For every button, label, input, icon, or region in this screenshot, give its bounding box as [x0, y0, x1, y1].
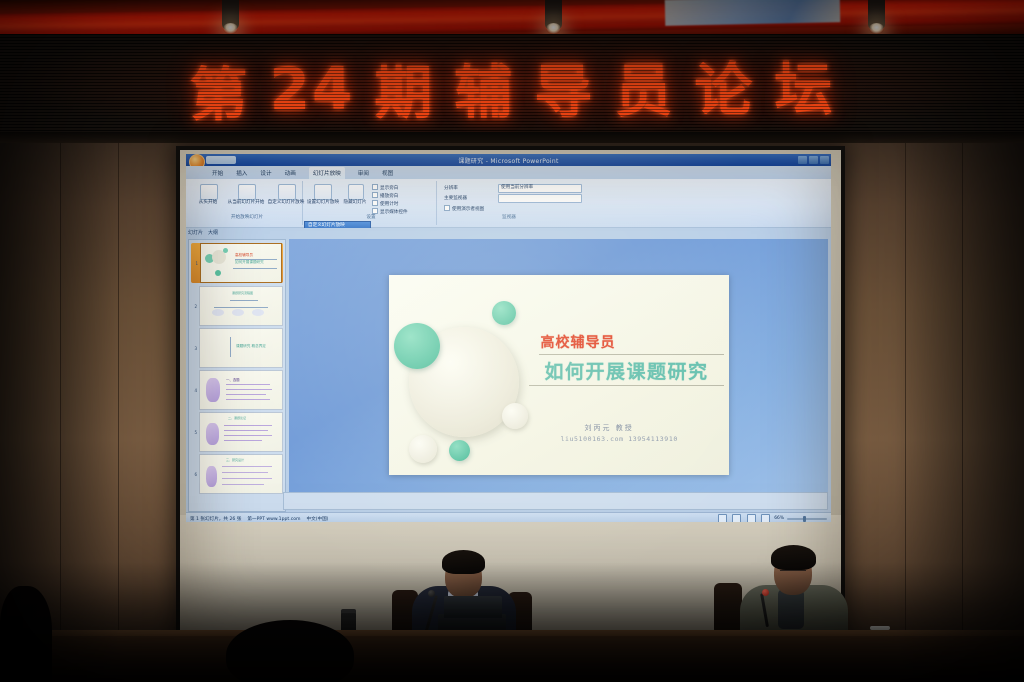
tab-insert[interactable]: 插入 — [236, 169, 247, 177]
thumb-rule — [233, 268, 277, 269]
slide-circle-teal-icon — [492, 301, 516, 325]
thumb-divider — [230, 337, 231, 357]
slide-circle-white-icon — [502, 403, 528, 429]
checkbox-label: 使用演示者视图 — [452, 207, 484, 212]
slide-circle-teal-icon — [449, 440, 470, 461]
slide-editing-area[interactable]: 高校辅导员 如何开展课题研究 刘丙元 教授 liu5100163.com 139… — [289, 239, 828, 510]
thumb-box-icon — [252, 309, 264, 316]
checkbox-label: 播放旁白 — [380, 194, 398, 199]
thumb-rule — [226, 399, 270, 400]
slide-contact: liu5100163.com 13954113910 — [561, 435, 678, 443]
thumb-rule — [222, 466, 272, 467]
slide-divider — [539, 354, 724, 355]
tab-review[interactable]: 审阅 — [358, 169, 369, 177]
monitor-combo[interactable] — [498, 194, 582, 203]
label-show-on: 主要监视器 — [444, 195, 467, 201]
zoom-level: 66% — [774, 516, 784, 521]
thumbnail-caption: 二、课题论证 — [228, 416, 246, 420]
thumb-side-shape — [206, 423, 219, 445]
hair — [771, 545, 816, 570]
banner-char: 第 — [189, 47, 250, 132]
checkbox-box[interactable] — [444, 205, 450, 211]
current-slide[interactable]: 高校辅导员 如何开展课题研究 刘丙元 教授 liu5100163.com 139… — [389, 275, 729, 475]
thumb-rule — [214, 307, 268, 308]
thumbnail-caption: 课题研究流程图 — [232, 291, 253, 295]
slide-sorter-icon[interactable] — [732, 514, 741, 523]
tab-design[interactable]: 设计 — [260, 169, 271, 177]
checkbox-box[interactable] — [372, 192, 378, 198]
thumb-bullet: 一、选题 — [226, 377, 240, 382]
checkbox-box[interactable] — [372, 200, 378, 206]
checkbox-show-narration[interactable]: 显示旁白 — [372, 184, 398, 191]
setup-slideshow-icon[interactable] — [314, 184, 332, 200]
thumb-box-icon — [232, 309, 244, 316]
checkbox-presenter-view[interactable]: 使用演示者视图 — [444, 205, 484, 212]
thumb-circle-icon — [223, 248, 228, 253]
tab-slideshow[interactable]: 幻灯片放映 — [309, 167, 345, 179]
thumbnail-caption: 三、研究设计 — [226, 458, 244, 462]
banner-char: 坛 — [774, 42, 835, 127]
thumb-box-icon — [212, 309, 224, 316]
thumb-rule — [226, 394, 266, 395]
slide-thumbnail-5[interactable]: 5 二、课题论证 — [191, 413, 283, 451]
slide-author: 刘丙元 教授 — [585, 423, 634, 433]
window-buttons[interactable] — [798, 156, 829, 164]
chair — [714, 583, 742, 635]
reading-view-icon[interactable] — [747, 514, 756, 523]
audience-head — [226, 620, 354, 682]
status-bar: 第 1 张幻灯片，共 26 张 第一PPT www.1ppt.com 中文(中国… — [186, 512, 831, 522]
thumbnail-card[interactable]: 课题研究流程图 — [199, 286, 283, 326]
checkbox-show-media-controls[interactable]: 显示媒体控件 — [372, 208, 408, 215]
thumb-rule — [224, 435, 272, 436]
thumbnail-card[interactable]: 高校辅导员 如何开展课题研究 — [200, 243, 282, 283]
slide-thumbnail-2[interactable]: 2 课题研究流程图 — [191, 287, 283, 325]
banner-char: 论 — [694, 43, 755, 128]
checkbox-box[interactable] — [372, 184, 378, 190]
checkbox-label: 显示旁白 — [380, 186, 398, 191]
checkbox-label: 使用计时 — [380, 202, 398, 207]
custom-slideshow-label: 自定义幻灯片放映 — [266, 200, 306, 206]
thumb-rule — [222, 472, 268, 473]
checkbox-play-narration[interactable]: 播放旁白 — [372, 192, 398, 199]
slideshow-view-icon[interactable] — [761, 514, 770, 523]
thumb-rule — [224, 425, 272, 426]
thumbnail-number: 6 — [191, 472, 197, 477]
lecture-hall-photo: 第 24 期 辅 导 员 论 坛 课题研究 - Microsoft PowerP… — [0, 0, 1024, 682]
checkbox-use-timings[interactable]: 使用计时 — [372, 200, 398, 207]
close-icon[interactable] — [820, 156, 829, 164]
setup-slideshow-label: 设置幻灯片放映 — [306, 200, 340, 206]
ribbon-group-start-slideshow: 从头开始 从当前幻灯片开始 自定义幻灯片放映 开始放映幻灯片 — [190, 181, 303, 225]
thumbnail-card[interactable]: 课题研究 概念界定 — [199, 328, 283, 368]
thumbnail-number: 4 — [191, 388, 197, 393]
outline-slides-tabs[interactable]: 幻灯片 大纲 — [188, 229, 218, 236]
slide-thumbnail-pane[interactable]: 1 高校辅导员 如何开展课题研究 2 — [188, 239, 286, 512]
thumb-rule — [224, 430, 268, 431]
banner-char: 导 — [534, 44, 595, 129]
restore-icon[interactable] — [809, 156, 818, 164]
hide-slide-label: 隐藏幻灯片 — [340, 200, 370, 206]
banner-char: 24 — [269, 54, 354, 123]
thumbnail-title-teal: 如何开展课题研究 — [235, 260, 264, 265]
ribbon[interactable]: 从头开始 从当前幻灯片开始 自定义幻灯片放映 开始放映幻灯片 设置幻灯片放映 隐… — [186, 179, 831, 228]
view-buttons[interactable] — [718, 510, 771, 523]
thumb-rule — [230, 300, 258, 301]
thumb-rule — [224, 440, 262, 441]
from-current-slide-icon[interactable] — [238, 184, 256, 200]
ribbon-group-monitors-title: 监视器 — [486, 215, 532, 221]
thumb-side-shape — [206, 378, 220, 402]
slide-thumbnail-1[interactable]: 1 高校辅导员 如何开展课题研究 — [191, 243, 283, 283]
from-beginning-icon[interactable] — [200, 184, 218, 200]
tab-animations[interactable]: 动画 — [285, 169, 296, 177]
thermos-cap — [341, 609, 356, 613]
thumbnail-card[interactable]: 一、选题 — [199, 370, 283, 410]
ribbon-tabs[interactable]: 开始 插入 设计 动画 幻灯片放映 审阅 视图 — [186, 166, 831, 179]
wall-seam — [962, 143, 963, 682]
status-right-cluster[interactable]: 66% — [718, 510, 827, 523]
slide-circle-teal-icon — [394, 323, 440, 369]
banner-char: 辅 — [454, 45, 515, 130]
normal-view-icon[interactable] — [718, 514, 727, 523]
slide-title-primary: 高校辅导员 — [541, 332, 616, 352]
slide-thumbnail-3[interactable]: 3 课题研究 概念界定 — [191, 329, 283, 367]
thumb-rule — [226, 384, 270, 385]
microphone-head-icon — [428, 590, 435, 597]
microphone-head-icon — [762, 589, 769, 596]
resolution-combo-value: 使用当前分辨率 — [501, 185, 581, 191]
wall-seam — [905, 143, 906, 682]
slide-thumbnail-6[interactable]: 6 三、研究设计 — [191, 455, 283, 493]
presenter-desk — [0, 636, 1024, 682]
thumb-rule — [235, 259, 277, 260]
audience-head — [0, 586, 52, 682]
checkbox-box[interactable] — [372, 208, 378, 214]
shirt — [778, 589, 804, 629]
ribbon-group-start-slideshow-title: 开始放映幻灯片 — [212, 215, 282, 221]
tab-home[interactable]: 开始 — [212, 169, 223, 177]
slide-title-secondary: 如何开展课题研究 — [545, 357, 709, 384]
status-language[interactable]: 中文(中国) — [307, 516, 329, 522]
glasses-icon — [780, 570, 806, 576]
from-current-slide-label: 从当前幻灯片开始 — [226, 200, 266, 206]
wall-seam — [118, 143, 119, 682]
thumb-rule — [222, 484, 264, 485]
ceiling-spotlight-icon — [545, 0, 562, 30]
tab-slides-pane[interactable]: 幻灯片 — [188, 229, 203, 236]
tab-outline-pane[interactable]: 大纲 — [208, 229, 218, 236]
thumb-side-shape — [206, 466, 217, 487]
zoom-slider-handle[interactable] — [803, 516, 806, 522]
zoom-slider[interactable] — [787, 518, 827, 520]
thumbnail-number: 5 — [191, 430, 197, 435]
thumbnail-caption: 课题研究 概念界定 — [236, 344, 266, 349]
thumbnail-number: 3 — [191, 346, 197, 351]
from-beginning-label: 从头开始 — [190, 200, 226, 206]
banner-char: 员 — [614, 44, 675, 129]
thumbnail-card[interactable]: 二、课题论证 — [199, 412, 283, 452]
led-banner-text: 第 24 期 辅 导 员 论 坛 — [0, 30, 1024, 145]
ceiling-spotlight-icon — [222, 0, 239, 30]
hide-slide-icon[interactable] — [348, 184, 364, 200]
hair — [442, 550, 485, 574]
powerpoint-window[interactable]: 课题研究 - Microsoft PowerPoint 开始 插入 设计 动画 … — [186, 154, 831, 522]
tab-view[interactable]: 视图 — [382, 169, 393, 177]
thumb-rule — [226, 389, 272, 390]
status-slide-indicator: 第 1 张幻灯片，共 26 张 — [190, 516, 241, 522]
laptop-screen — [444, 596, 502, 618]
minimize-icon[interactable] — [798, 156, 807, 164]
custom-slideshow-icon[interactable] — [278, 184, 296, 200]
slide-thumbnail-4[interactable]: 4 一、选题 — [191, 371, 283, 409]
banner-char: 期 — [374, 46, 435, 131]
slide-divider — [529, 385, 724, 386]
ribbon-group-setup: 设置幻灯片放映 隐藏幻灯片 显示旁白 播放旁白 使用计时 显示媒体控件 — [306, 181, 437, 225]
editor-body: 幻灯片 大纲 1 高校辅导员 如何开展课题研究 — [186, 228, 831, 512]
thumbnail-card[interactable]: 三、研究设计 — [199, 454, 283, 494]
status-theme-name: 第一PPT www.1ppt.com — [247, 516, 300, 522]
slide-circle-white-icon — [409, 435, 437, 463]
thumb-rule — [222, 478, 272, 479]
wall-seam — [60, 143, 61, 682]
window-title-text: 课题研究 - Microsoft PowerPoint — [186, 156, 831, 165]
ribbon-group-setup-title: 设置 — [348, 215, 394, 221]
ceiling-panel — [665, 0, 841, 26]
thumbnail-number: 2 — [191, 304, 197, 309]
notes-pane[interactable] — [283, 492, 828, 510]
thumbnail-number: 1 — [192, 261, 198, 266]
ceiling-spotlight-icon — [868, 0, 885, 30]
ribbon-group-monitors: 分辨率 使用当前分辨率 主要监视器 使用演示者视图 监视器 — [440, 181, 620, 225]
window-title-bar: 课题研究 - Microsoft PowerPoint — [186, 154, 831, 166]
thumb-circle-icon — [215, 270, 221, 276]
label-resolution: 分辨率 — [444, 185, 458, 191]
speaker-right — [736, 545, 862, 643]
thumbnail-title-red: 高校辅导员 — [235, 253, 253, 258]
